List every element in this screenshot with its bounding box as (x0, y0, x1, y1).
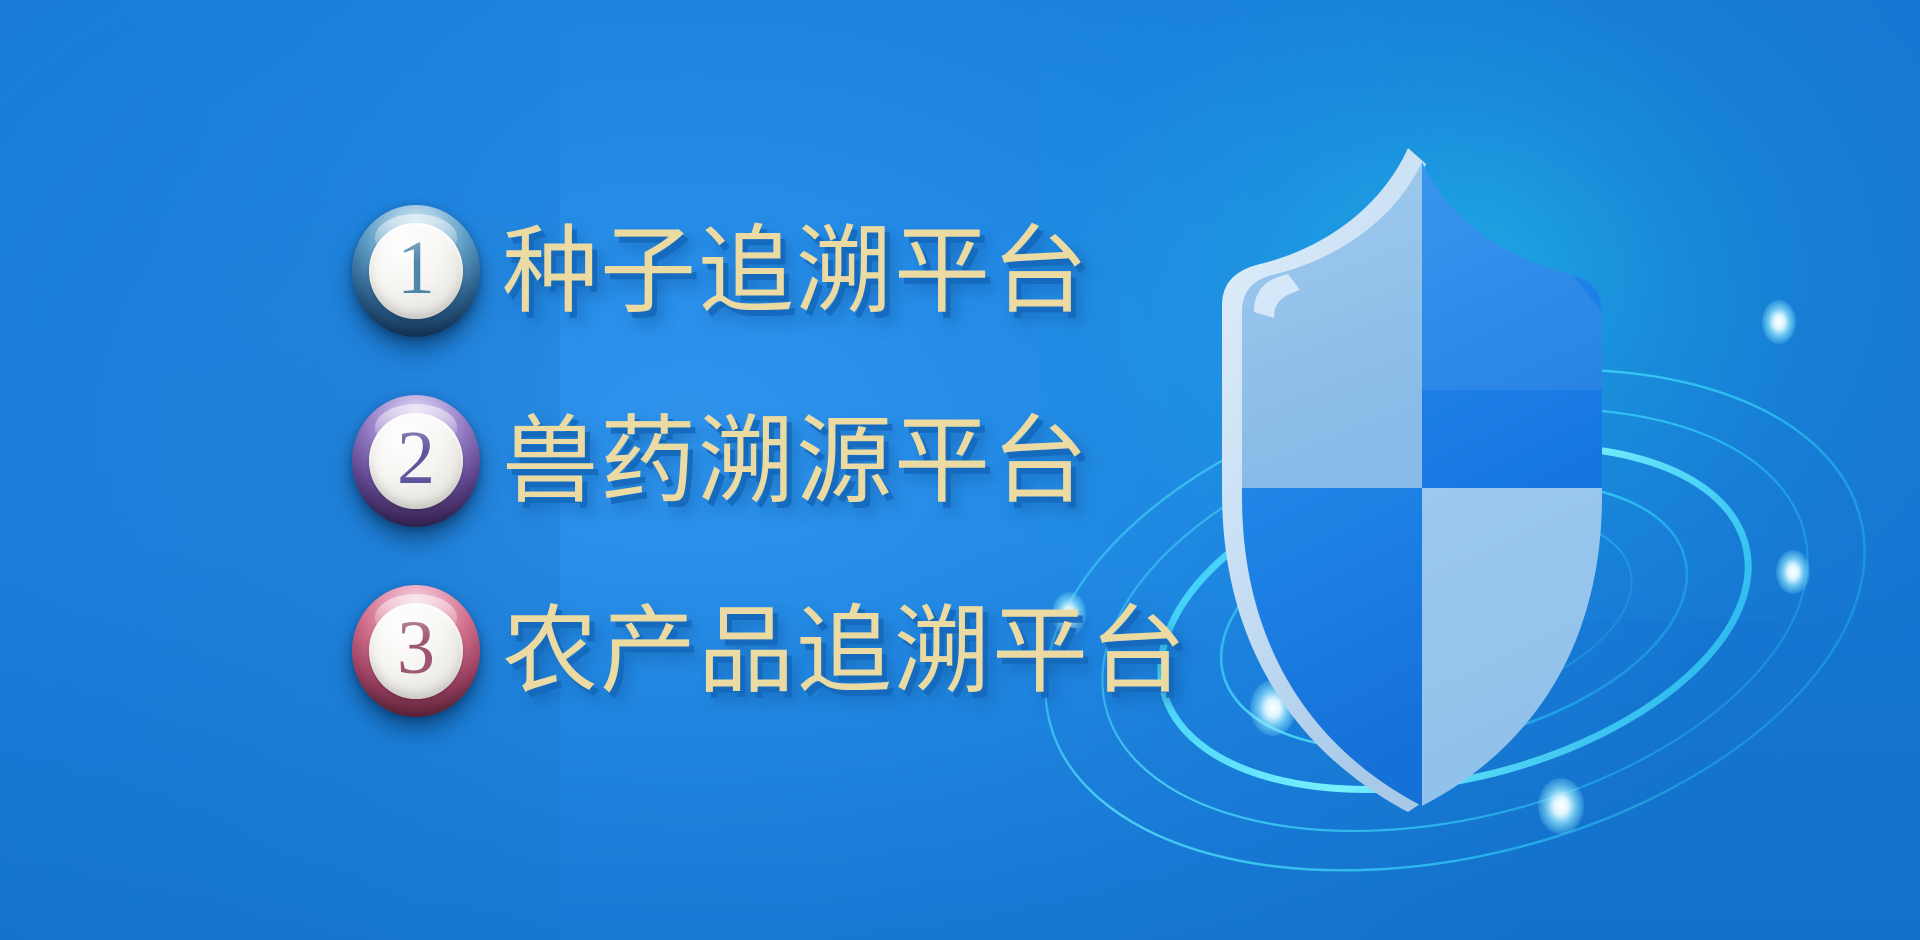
badge-label: 3 (397, 610, 435, 686)
banner-canvas: 1 种子追溯平台 2 兽药溯源平台 3 (0, 0, 1920, 940)
platform-title: 兽药溯源平台 (502, 413, 1090, 509)
orbit-spark (1776, 550, 1810, 594)
badge-number-3: 3 (352, 585, 480, 717)
badge-label: 2 (397, 420, 435, 496)
badge-label: 1 (397, 230, 435, 306)
list-item[interactable]: 3 农产品追溯平台 (352, 556, 1252, 746)
list-item[interactable]: 2 兽药溯源平台 (352, 366, 1252, 556)
list-item[interactable]: 1 种子追溯平台 (352, 176, 1252, 366)
badge-face: 1 (369, 223, 462, 319)
badge-face: 2 (369, 413, 462, 509)
orbit-spark (1762, 300, 1796, 344)
badge-face: 3 (369, 603, 462, 699)
platform-title: 种子追溯平台 (502, 223, 1090, 319)
badge-number-2: 2 (352, 395, 480, 527)
platform-list: 1 种子追溯平台 2 兽药溯源平台 3 (352, 176, 1252, 746)
platform-title: 农产品追溯平台 (502, 603, 1188, 699)
badge-number-1: 1 (352, 205, 480, 337)
